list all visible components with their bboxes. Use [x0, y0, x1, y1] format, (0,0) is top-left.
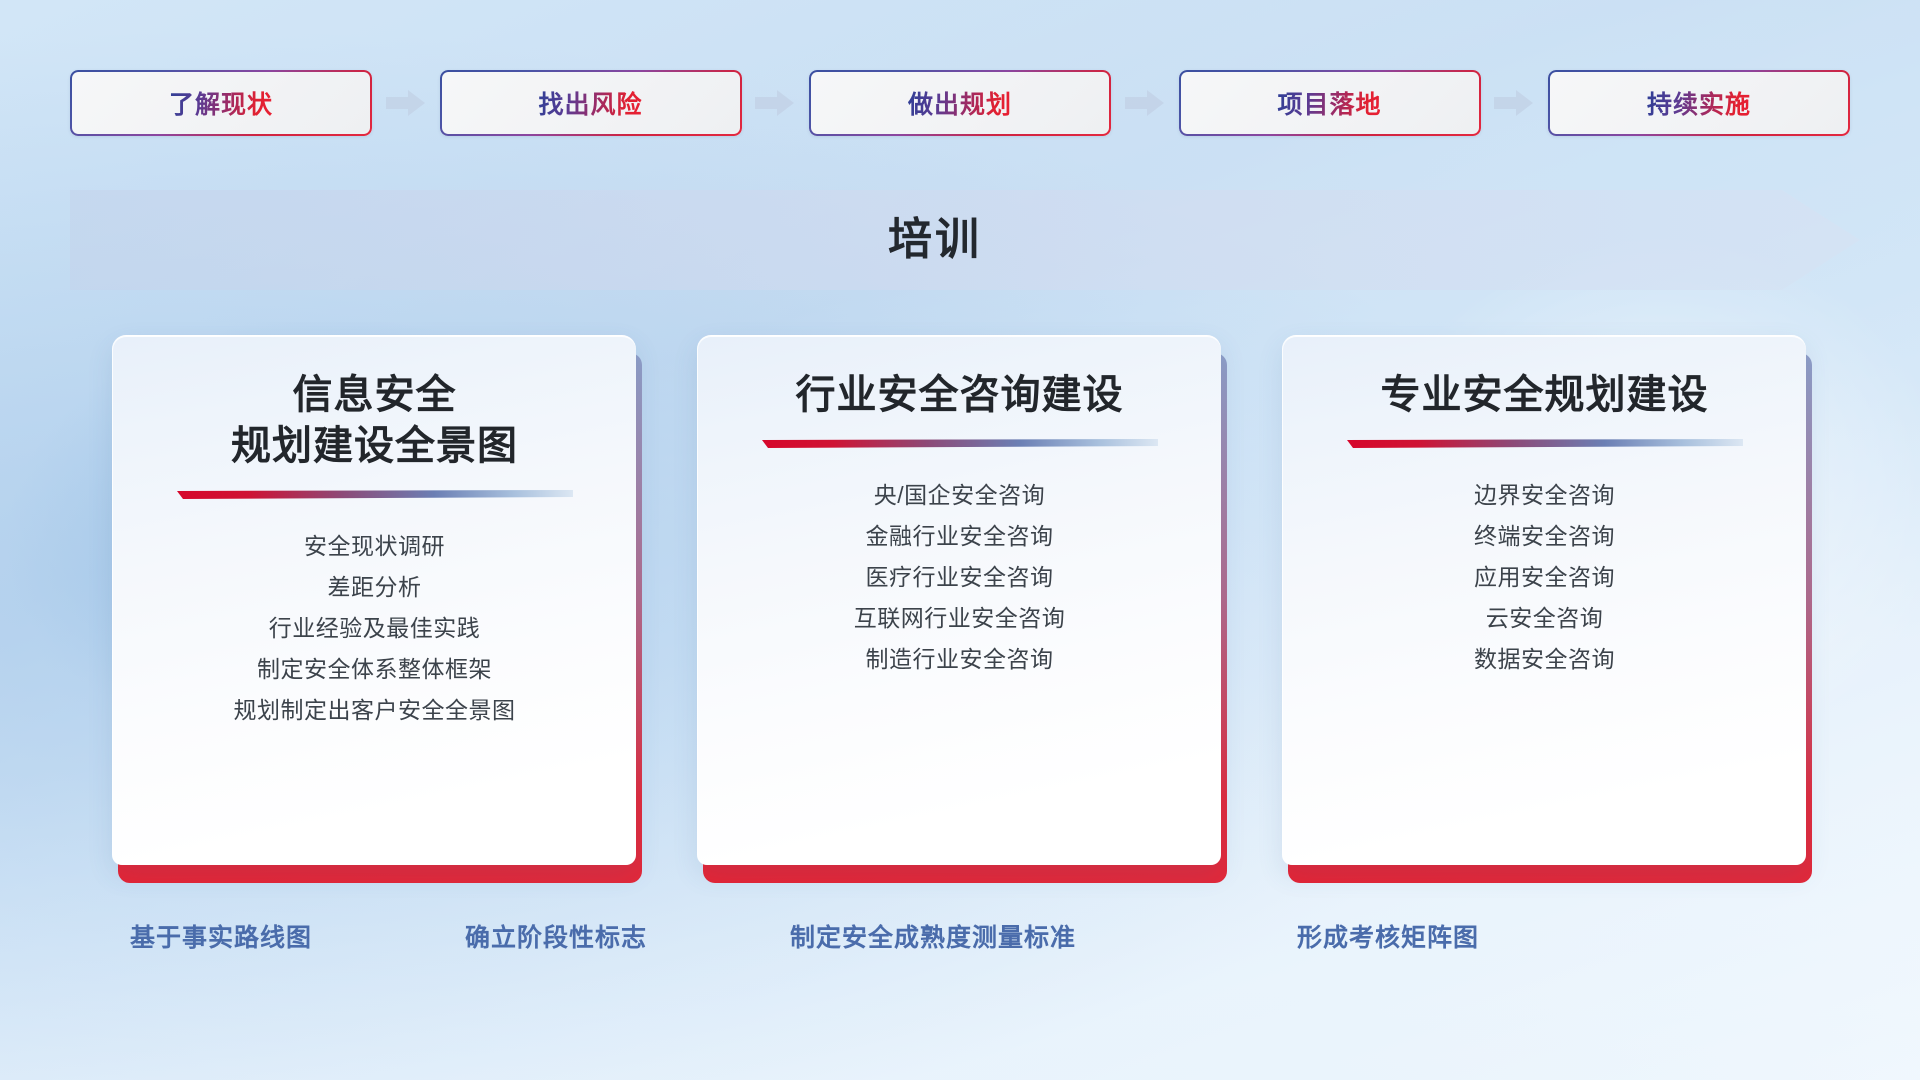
- card-title: 行业安全咨询建设: [698, 370, 1221, 421]
- list-item: 制造行业安全咨询: [698, 639, 1221, 680]
- card-wrapper-3: 专业安全规划建设: [1282, 335, 1812, 875]
- list-item: 央/国企安全咨询: [698, 475, 1221, 516]
- list-item: 差距分析: [113, 567, 636, 608]
- list-item: 安全现状调研: [113, 526, 636, 567]
- card-row: 信息安全 规划建设全景图: [112, 335, 1812, 875]
- step-box-2[interactable]: 找出风险: [440, 70, 742, 136]
- list-item: 终端安全咨询: [1283, 516, 1806, 557]
- list-item: 边界安全咨询: [1283, 475, 1806, 516]
- list-item: 云安全咨询: [1283, 598, 1806, 639]
- list-item: 规划制定出客户安全全景图: [113, 690, 636, 731]
- step-label: 找出风险: [538, 85, 642, 121]
- list-item: 制定安全体系整体框架: [113, 649, 636, 690]
- list-item: 金融行业安全咨询: [698, 516, 1221, 557]
- caption-4: 形成考核矩阵图: [1297, 915, 1479, 961]
- step-label: 了解现状: [169, 85, 273, 121]
- caption-1: 基于事实路线图: [130, 915, 312, 961]
- step-label: 做出规划: [908, 85, 1012, 121]
- card-title: 专业安全规划建设: [1283, 370, 1806, 421]
- caption-2: 确立阶段性标志: [465, 915, 647, 961]
- card-list-1: 安全现状调研 差距分析 行业经验及最佳实践 制定安全体系整体框架 规划制定出客户…: [113, 526, 636, 731]
- list-item: 医疗行业安全咨询: [698, 557, 1221, 598]
- arrow-right-icon: [386, 88, 426, 118]
- card-list-2: 央/国企安全咨询 金融行业安全咨询 医疗行业安全咨询 互联网行业安全咨询 制造行…: [698, 475, 1221, 680]
- list-item: 应用安全咨询: [1283, 557, 1806, 598]
- arrow-right-icon: [1494, 88, 1534, 118]
- card-title: 信息安全 规划建设全景图: [113, 370, 636, 472]
- card-3[interactable]: 专业安全规划建设: [1282, 335, 1806, 865]
- card-divider-icon: [1347, 439, 1743, 449]
- step-box-3[interactable]: 做出规划: [809, 70, 1111, 136]
- list-item: 互联网行业安全咨询: [698, 598, 1221, 639]
- card-list-3: 边界安全咨询 终端安全咨询 应用安全咨询 云安全咨询 数据安全咨询: [1283, 475, 1806, 680]
- step-box-5[interactable]: 持续实施: [1548, 70, 1850, 136]
- step-label: 项目落地: [1277, 85, 1381, 121]
- card-divider-icon: [762, 439, 1158, 449]
- arrow-right-icon: [1125, 88, 1165, 118]
- slide-canvas: 了解现状 找出风险 做出规划 项目落地: [0, 0, 1920, 1080]
- step-box-4[interactable]: 项目落地: [1179, 70, 1481, 136]
- card-1[interactable]: 信息安全 规划建设全景图: [112, 335, 636, 865]
- card-wrapper-2: 行业安全咨询建设: [697, 335, 1227, 875]
- caption-row: 基于事实路线图 确立阶段性标志 制定安全成熟度测量标准 形成考核矩阵图: [0, 915, 1920, 961]
- list-item: 数据安全咨询: [1283, 639, 1806, 680]
- arrow-right-icon: [755, 88, 795, 118]
- card-divider-icon: [177, 490, 573, 500]
- list-item: 行业经验及最佳实践: [113, 608, 636, 649]
- step-label: 持续实施: [1647, 85, 1751, 121]
- training-banner: 培训: [70, 190, 1860, 290]
- process-step-row: 了解现状 找出风险 做出规划 项目落地: [70, 70, 1850, 136]
- caption-3: 制定安全成熟度测量标准: [790, 915, 1076, 961]
- card-wrapper-1: 信息安全 规划建设全景图: [112, 335, 642, 875]
- card-2[interactable]: 行业安全咨询建设: [697, 335, 1221, 865]
- step-box-1[interactable]: 了解现状: [70, 70, 372, 136]
- banner-label: 培训: [70, 190, 1860, 290]
